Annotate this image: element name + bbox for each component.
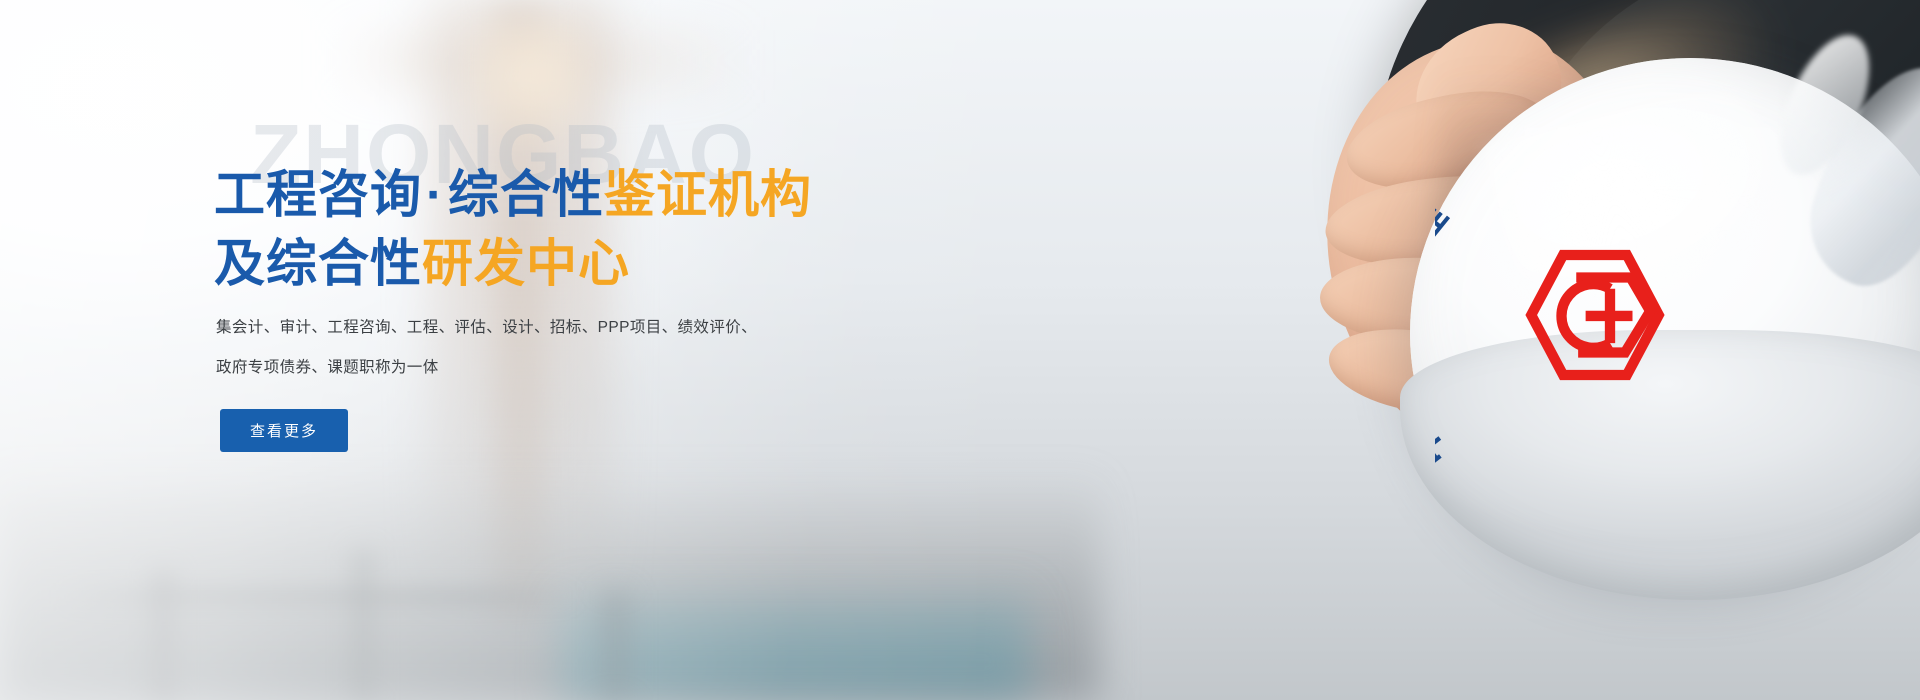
svg-text:中宝工程管理: 中宝工程管理 xyxy=(1435,190,1459,477)
hero-content: ZHONGBAO 工程咨询·综合性鉴证机构 及综合性研发中心 集会计、审计、工程… xyxy=(214,0,1034,700)
headline-line-1: 工程咨询·综合性鉴证机构 xyxy=(214,160,1034,229)
description-line-1: 集会计、审计、工程咨询、工程、评估、设计、招标、PPP项目、绩效评价、 xyxy=(216,308,816,348)
headline-segment-blue-3: 及综合性 xyxy=(214,235,422,292)
page-title: 工程咨询·综合性鉴证机构 及综合性研发中心 xyxy=(214,160,1034,299)
zhongbao-hexagon-logo xyxy=(1520,240,1670,390)
view-more-button[interactable]: 查看更多 xyxy=(220,409,348,452)
headline-segment-orange-2: 研发中心 xyxy=(422,235,630,292)
headline-segment-orange: 鉴证机构 xyxy=(604,166,812,223)
scaffold-post-blur xyxy=(150,570,176,700)
hero-description: 集会计、审计、工程咨询、工程、评估、设计、招标、PPP项目、绩效评价、 政府专项… xyxy=(216,308,816,387)
headline-separator-dot: · xyxy=(422,166,448,223)
hero-banner: 中宝工程管理 ZHONGBAO 工程咨询·综合性鉴证机构 xyxy=(0,0,1920,700)
description-line-2: 政府专项债券、课题职称为一体 xyxy=(216,348,816,388)
headline-segment-blue-2: 综合性 xyxy=(448,166,604,223)
headline-segment-blue: 工程咨询 xyxy=(214,166,422,223)
helmet-brand-textpath: 中宝工程管理 xyxy=(1435,190,1459,477)
headline-line-2: 及综合性研发中心 xyxy=(214,229,1034,298)
